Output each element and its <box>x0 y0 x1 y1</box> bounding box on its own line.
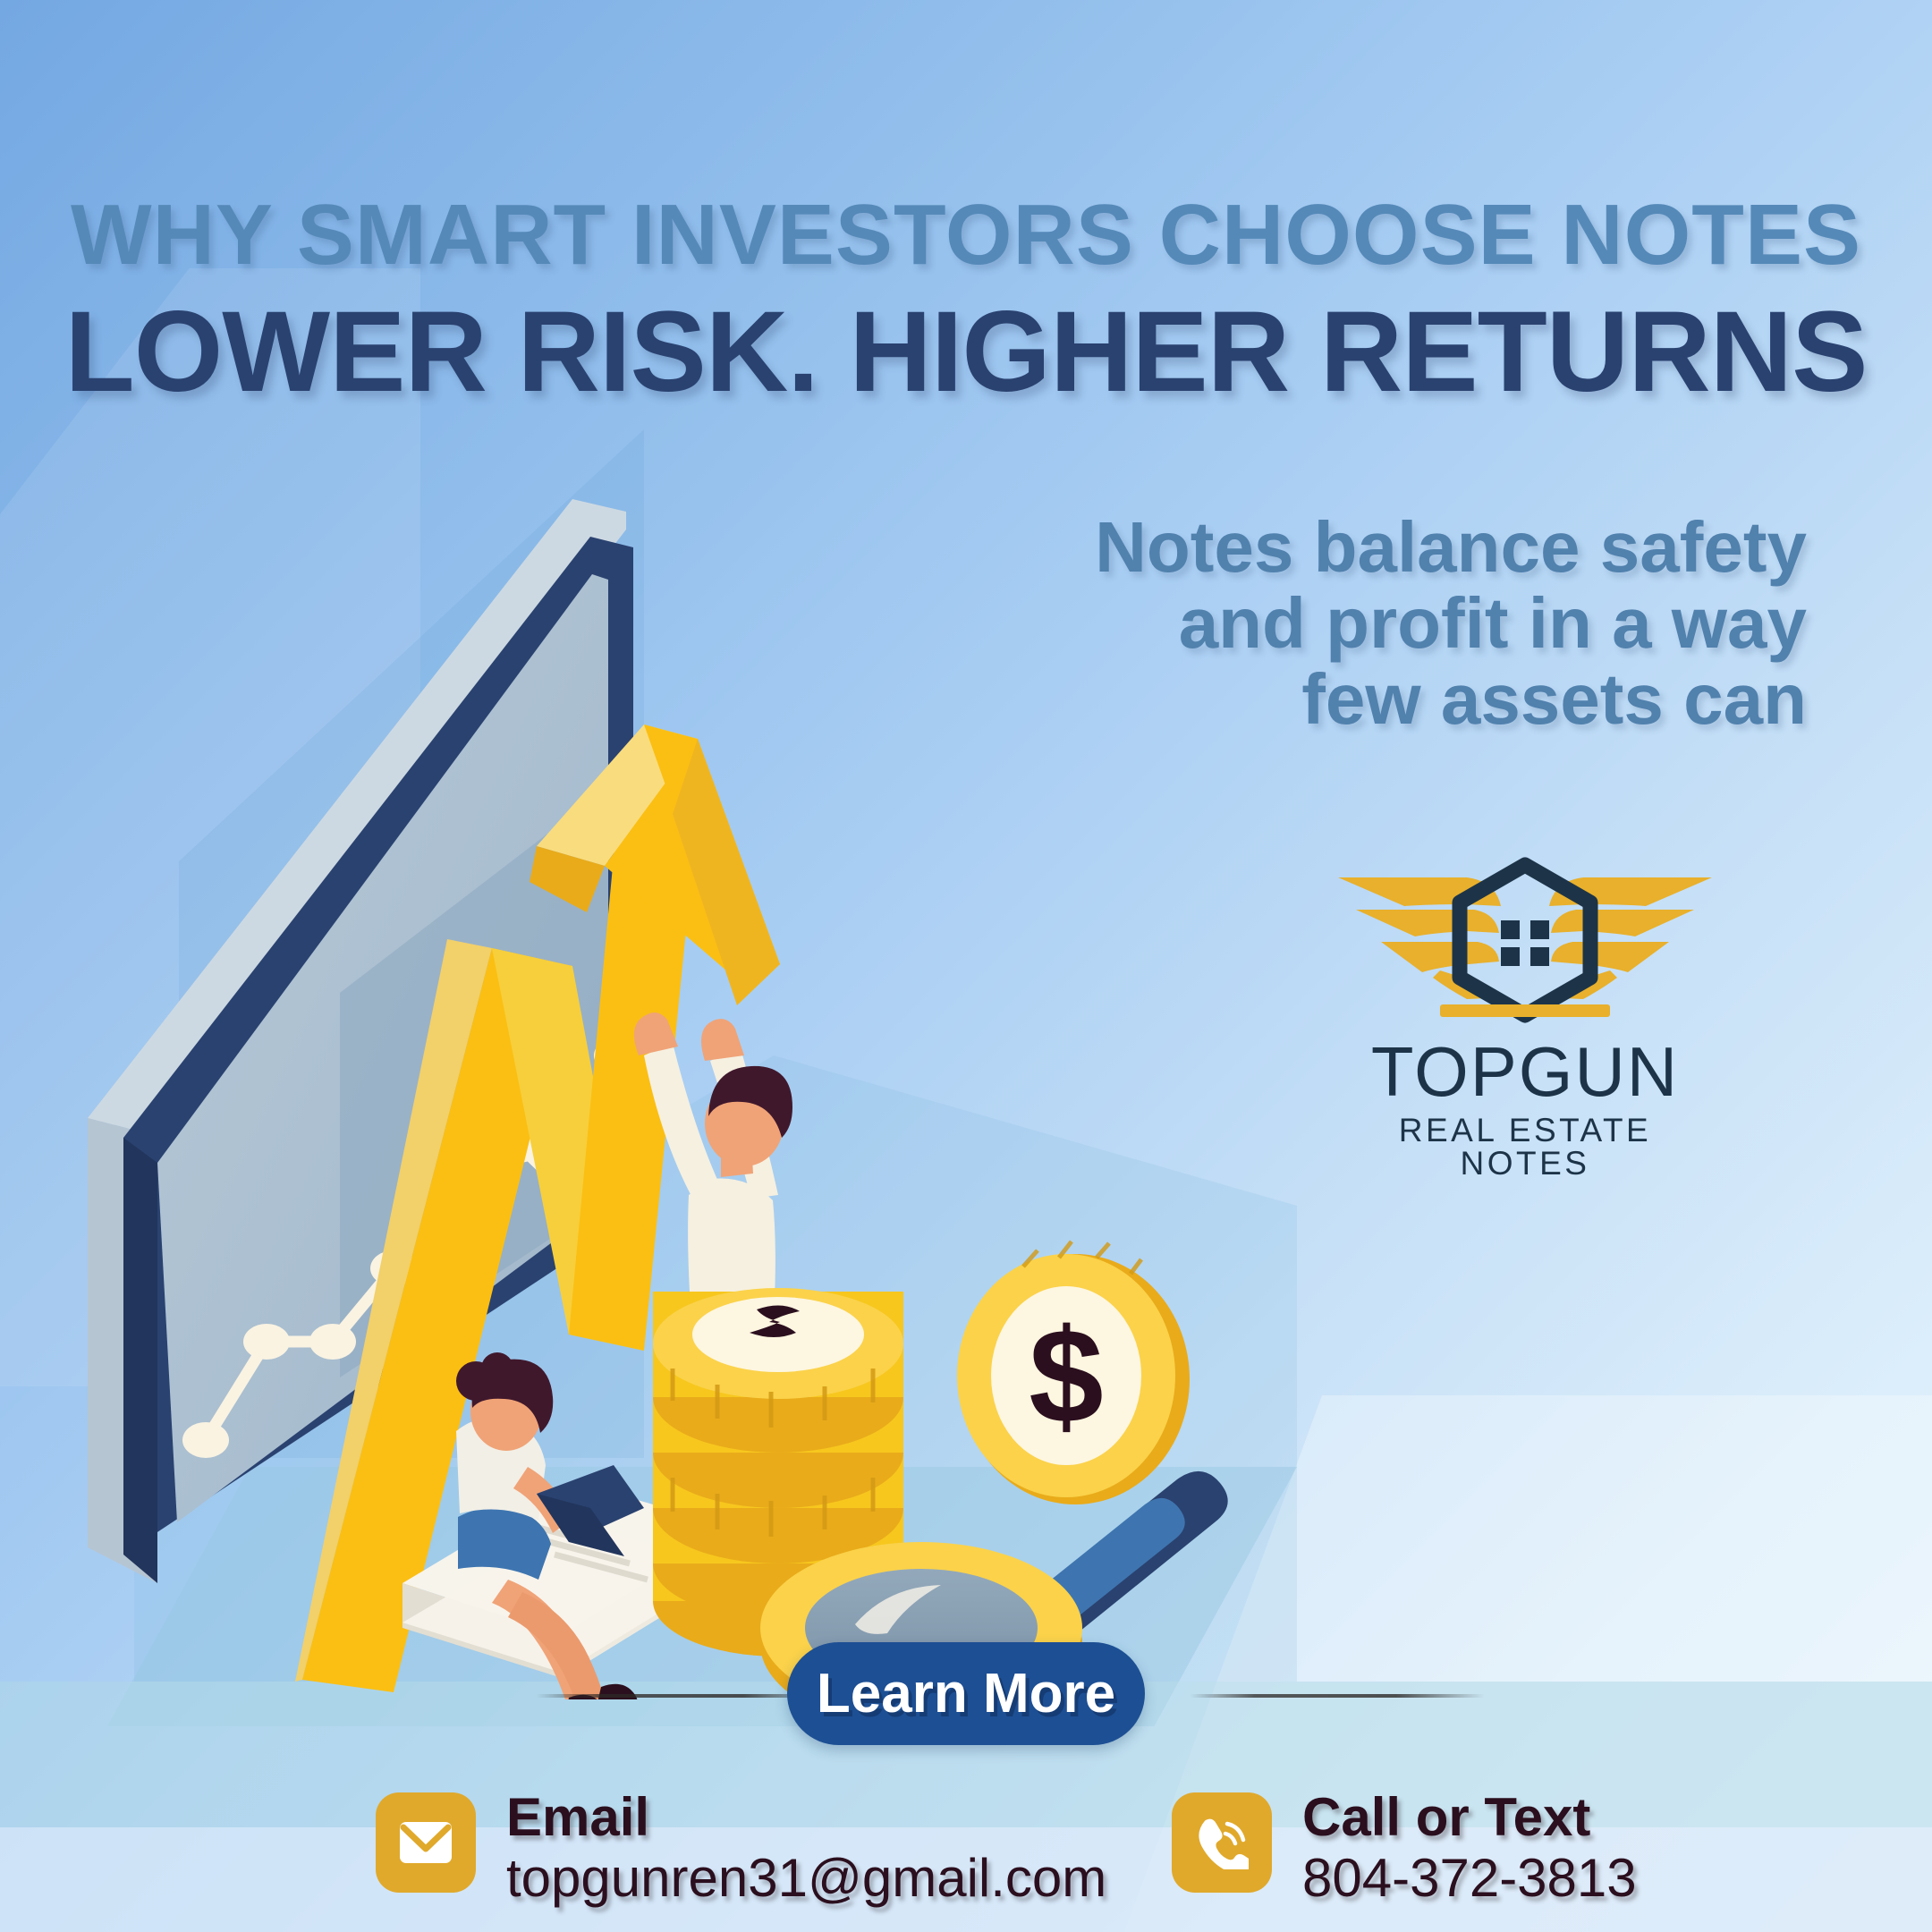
learn-more-button[interactable]: Learn More <box>787 1642 1145 1745</box>
promotional-poster: WHY SMART INVESTORS CHOOSE NOTES LOWER R… <box>0 0 1932 1932</box>
logo-mark-icon <box>1333 854 1717 1033</box>
phone-label: Call or Text <box>1302 1789 1637 1845</box>
dollar-coin: $ <box>957 1241 1190 1504</box>
contact-phone[interactable]: Call or Text 804-372-3813 <box>1172 1789 1637 1932</box>
headline-eyebrow: WHY SMART INVESTORS CHOOSE NOTES <box>0 192 1932 278</box>
logo-brand-tagline: REAL ESTATE NOTES <box>1333 1114 1717 1180</box>
brand-logo: TOPGUN REAL ESTATE NOTES <box>1333 854 1717 1180</box>
illustration-growth-scene: $ <box>72 429 1252 1699</box>
cta-row: Learn More <box>0 1642 1932 1750</box>
email-value[interactable]: topgunren31@gmail.com <box>506 1849 1106 1908</box>
svg-text:$: $ <box>1029 1301 1103 1451</box>
phone-value[interactable]: 804-372-3813 <box>1302 1849 1637 1908</box>
envelope-icon <box>376 1792 476 1893</box>
email-label: Email <box>506 1789 1106 1845</box>
headline-block: WHY SMART INVESTORS CHOOSE NOTES LOWER R… <box>0 192 1932 411</box>
contact-email[interactable]: Email topgunren31@gmail.com <box>376 1789 1106 1932</box>
headline-main: LOWER RISK. HIGHER RETURNS <box>0 294 1932 411</box>
phone-icon <box>1172 1792 1272 1893</box>
logo-brand-name: TOPGUN <box>1333 1037 1717 1106</box>
divider-rule-right <box>1190 1694 1485 1698</box>
